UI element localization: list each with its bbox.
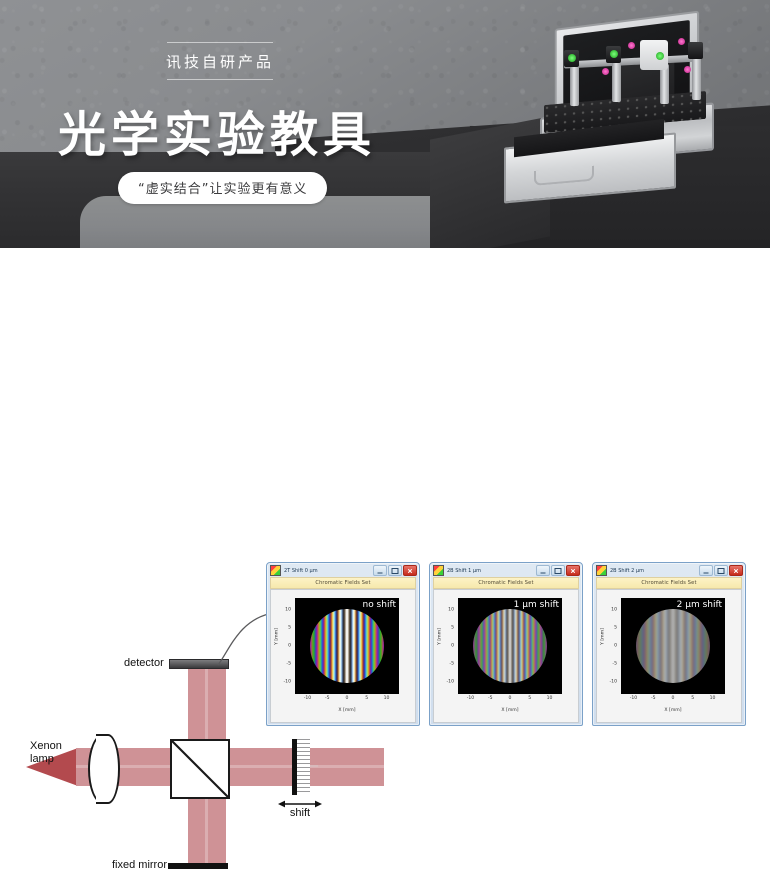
optic-post (660, 64, 669, 104)
banner-kicker-wrap: 讯技自研产品 (120, 42, 320, 80)
overlay-shift-label: no shift (362, 600, 396, 610)
xenon-lamp-label: Xenon lamp (30, 740, 62, 766)
plot-area: 2 µm shift -10-50510 1050-5-10 X [mm] Y … (596, 589, 742, 723)
y-axis-label: Y [mm] (275, 619, 280, 655)
overlay-shift-label: 1 µm shift (514, 600, 559, 610)
rule-bottom (167, 79, 273, 80)
drawer-handle-icon (534, 166, 594, 186)
xenon-lamp-label-line2: lamp (30, 753, 62, 766)
y-axis-label: Y [mm] (601, 619, 606, 655)
beamsplitter-diagonal-icon (172, 741, 228, 797)
beam-axis-horizontal (76, 765, 384, 768)
product-photo (452, 12, 770, 248)
optic-mount (688, 42, 703, 59)
minimize-button[interactable] (373, 565, 387, 576)
field-set-bar: Chromatic Fields Set (596, 577, 742, 589)
interferometer-diagram: Xenon lamp detector fixed mirror shift 2… (0, 250, 770, 630)
minimize-button[interactable] (699, 565, 713, 576)
x-tick-labels: -10-50510 (458, 696, 562, 704)
detector-label: detector (124, 657, 164, 669)
maximize-button[interactable] (551, 565, 565, 576)
field-set-bar: Chromatic Fields Set (270, 577, 416, 589)
optic-post (612, 60, 621, 102)
plot-axes: 2 µm shift (621, 598, 725, 694)
window-controls[interactable] (536, 565, 580, 576)
maximize-button[interactable] (714, 565, 728, 576)
field-set-label: Chromatic Fields Set (315, 580, 370, 586)
magenta-knob-icon (684, 66, 691, 73)
page-title: 光学实验教具 (58, 95, 376, 165)
interferogram-fringes (310, 609, 384, 683)
plot-axes: 1 µm shift (458, 598, 562, 694)
close-button[interactable] (729, 565, 743, 576)
banner-text-block: 讯技自研产品 光学实验教具 “虚实结合”让实验更有意义 (0, 0, 430, 248)
hero-banner: 讯技自研产品 光学实验教具 “虚实结合”让实验更有意义 (0, 0, 770, 248)
window-title: 2B Shift 1 µm (447, 568, 536, 574)
collimating-lens-second-surface (96, 734, 120, 804)
field-set-label: Chromatic Fields Set (641, 580, 696, 586)
window-titlebar[interactable]: 2T Shift 0 µm (267, 563, 419, 577)
window-controls[interactable] (373, 565, 417, 576)
field-set-label: Chromatic Fields Set (478, 580, 533, 586)
y-axis-label: Y [mm] (438, 619, 443, 655)
minimize-button[interactable] (536, 565, 550, 576)
banner-tagline-pill: “虚实结合”让实验更有意义 (118, 172, 327, 204)
banner-kicker: 讯技自研产品 (120, 43, 320, 79)
interferogram-fringes (473, 609, 547, 683)
fixed-mirror-icon (168, 863, 228, 869)
magenta-knob-icon (628, 42, 635, 49)
shift-label: shift (278, 807, 322, 819)
overlay-shift-label: 2 µm shift (677, 600, 722, 610)
sim-window-no-shift[interactable]: 2T Shift 0 µm Chromatic Fields Set no sh… (266, 562, 420, 726)
green-beam-glow-icon (568, 54, 576, 62)
app-icon (433, 565, 444, 576)
optic-post (692, 56, 701, 100)
movable-mirror-backing (297, 739, 310, 795)
window-titlebar[interactable]: 2B Shift 2 µm (593, 563, 745, 577)
field-set-bar: Chromatic Fields Set (433, 577, 579, 589)
magenta-knob-icon (602, 68, 609, 75)
beamsplitter-cube-icon (170, 739, 230, 799)
plot-area: no shift -10-50510 1050-5-10 X [mm] Y [m… (270, 589, 416, 723)
green-beam-glow-icon (656, 52, 664, 60)
window-title: 2T Shift 0 µm (284, 568, 373, 574)
sim-window-1um-shift[interactable]: 2B Shift 1 µm Chromatic Fields Set 1 µm … (429, 562, 583, 726)
plot-area: 1 µm shift -10-50510 1050-5-10 X [mm] Y … (433, 589, 579, 723)
x-axis-label: X [mm] (295, 708, 399, 713)
window-titlebar[interactable]: 2B Shift 1 µm (430, 563, 582, 577)
plot-axes: no shift (295, 598, 399, 694)
fixed-mirror-label: fixed mirror (112, 859, 167, 871)
x-tick-labels: -10-50510 (621, 696, 725, 704)
interferogram-fringes (636, 609, 710, 683)
optic-post (570, 66, 579, 106)
x-axis-label: X [mm] (621, 708, 725, 713)
app-icon (270, 565, 281, 576)
maximize-button[interactable] (388, 565, 402, 576)
app-icon (596, 565, 607, 576)
window-title: 2B Shift 2 µm (610, 568, 699, 574)
window-controls[interactable] (699, 565, 743, 576)
case-drawer (504, 132, 676, 203)
close-button[interactable] (566, 565, 580, 576)
x-tick-labels: -10-50510 (295, 696, 399, 704)
sim-window-2um-shift[interactable]: 2B Shift 2 µm Chromatic Fields Set 2 µm … (592, 562, 746, 726)
magenta-knob-icon (678, 38, 685, 45)
green-beam-glow-icon (610, 50, 618, 58)
x-axis-label: X [mm] (458, 708, 562, 713)
xenon-lamp-label-line1: Xenon (30, 740, 62, 753)
close-button[interactable] (403, 565, 417, 576)
